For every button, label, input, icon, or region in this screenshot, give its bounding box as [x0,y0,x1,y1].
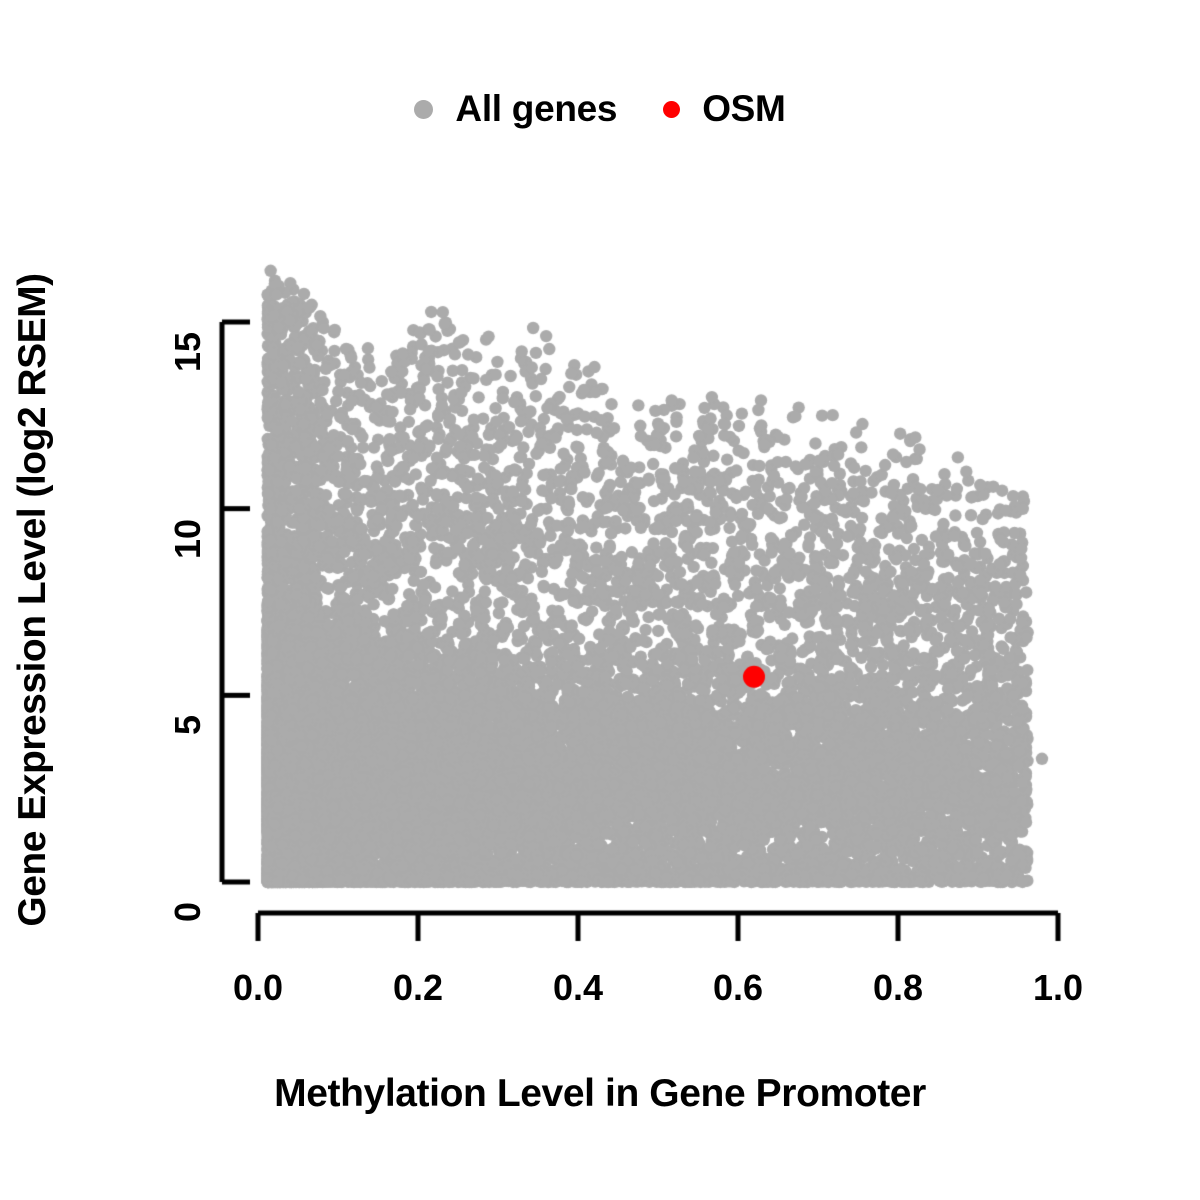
x-tick-label-1: 0.2 [358,970,478,1006]
y-tick-label-10: 10 [170,509,206,569]
x-tick-label-3: 0.6 [678,970,798,1006]
y-tick-label-0: 0 [170,882,206,942]
y-tick-label-5: 5 [170,695,206,755]
plot-area [0,0,1200,1200]
x-tick-label-0: 0.0 [198,970,318,1006]
y-axis-title: Gene Expression Level (log2 RSEM) [2,0,64,1200]
x-tick-label-5: 1.0 [998,970,1118,1006]
scatter-plot-figure: All genes OSM 0 5 10 15 0.0 0.2 0.4 0.6 … [0,0,1200,1200]
x-tick-label-4: 0.8 [838,970,958,1006]
x-axis-title: Methylation Level in Gene Promoter [0,1072,1200,1116]
x-tick-label-2: 0.4 [518,970,638,1006]
y-axis-title-wrap: Gene Expression Level (log2 RSEM) [2,0,64,1200]
y-tick-label-15: 15 [170,322,206,382]
